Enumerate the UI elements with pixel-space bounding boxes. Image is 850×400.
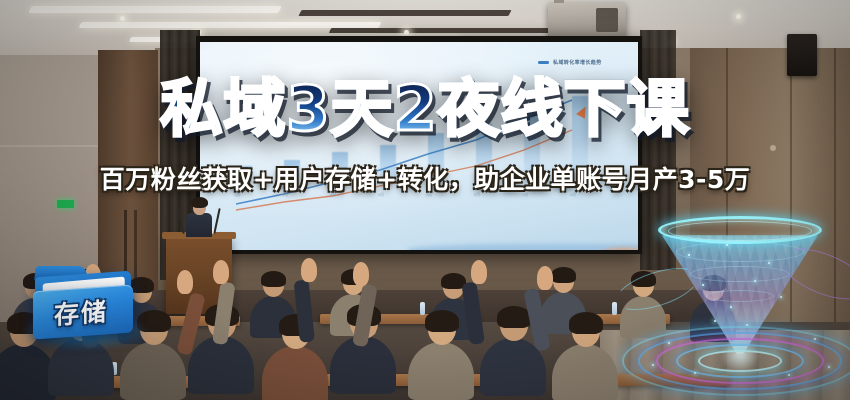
chart-legend: 私域转化率增长趋势 [538,59,602,66]
spark-particle [714,320,716,322]
spark-particle [788,374,790,376]
spark-particle [754,280,756,282]
page-subtitle: 百万粉丝获取+用户存储+转化，助企业单账号月产3-5万 [0,160,850,196]
raised-hand [177,270,193,294]
spark-particle [702,284,704,286]
spark-particle [652,364,654,366]
funnel-base-ring [622,326,850,396]
spark-particle [746,324,748,326]
badge-label: 存储 [31,291,131,334]
audience-member [120,342,186,400]
funnel-inner-ellipse [690,266,790,282]
audience-hair [569,312,603,334]
audience-hair [261,271,286,287]
water-bottle [420,302,425,315]
audience-member [188,336,254,394]
spark-particle [726,244,728,246]
page-title: 私域3天2夜线下课 [0,78,850,140]
legend-label: 私域转化率增长趋势 [553,59,602,66]
downlight-icon [404,30,409,35]
raised-hand [213,260,229,284]
wall-speaker-icon [787,34,817,76]
raised-hand [301,258,317,282]
presenter-body [186,213,212,237]
audience-hair [497,306,531,328]
promo-poster: 私域转化率增长趋势 1月2月3月4月5月6月7月8月 [0,0,850,400]
holographic-funnel [628,214,850,400]
door-knob [770,145,776,151]
chart-area-fill [408,244,638,250]
audience-hair [551,267,576,283]
audience-member [408,342,474,400]
raised-hand [537,266,553,290]
legend-marker [538,61,549,64]
downlight-icon [736,14,741,19]
spark-particle [668,342,670,344]
spark-particle [828,366,830,368]
ceiling-beam [329,28,561,33]
spark-particle [814,338,816,340]
projector-icon [548,2,626,40]
raised-hand [471,260,487,284]
exit-sign-icon [57,200,74,208]
spark-particle [688,254,690,256]
presenter-hair [191,197,208,208]
storage-badge[interactable]: 存储 [31,264,139,346]
spark-particle [780,296,782,298]
audience-hair [425,310,459,332]
audience-member [552,344,618,400]
ceiling-beam [298,10,511,16]
funnel-inner-ellipse [706,290,774,302]
audience-member [262,346,328,400]
spark-particle [768,262,770,264]
ceiling-light-strip [28,6,282,13]
spark-particle [730,306,732,308]
raised-hand [353,262,369,286]
slide-lower-chart [400,238,638,250]
funnel-rim-inner [668,221,812,241]
downlight-icon [120,16,125,21]
spark-particle [694,372,696,374]
